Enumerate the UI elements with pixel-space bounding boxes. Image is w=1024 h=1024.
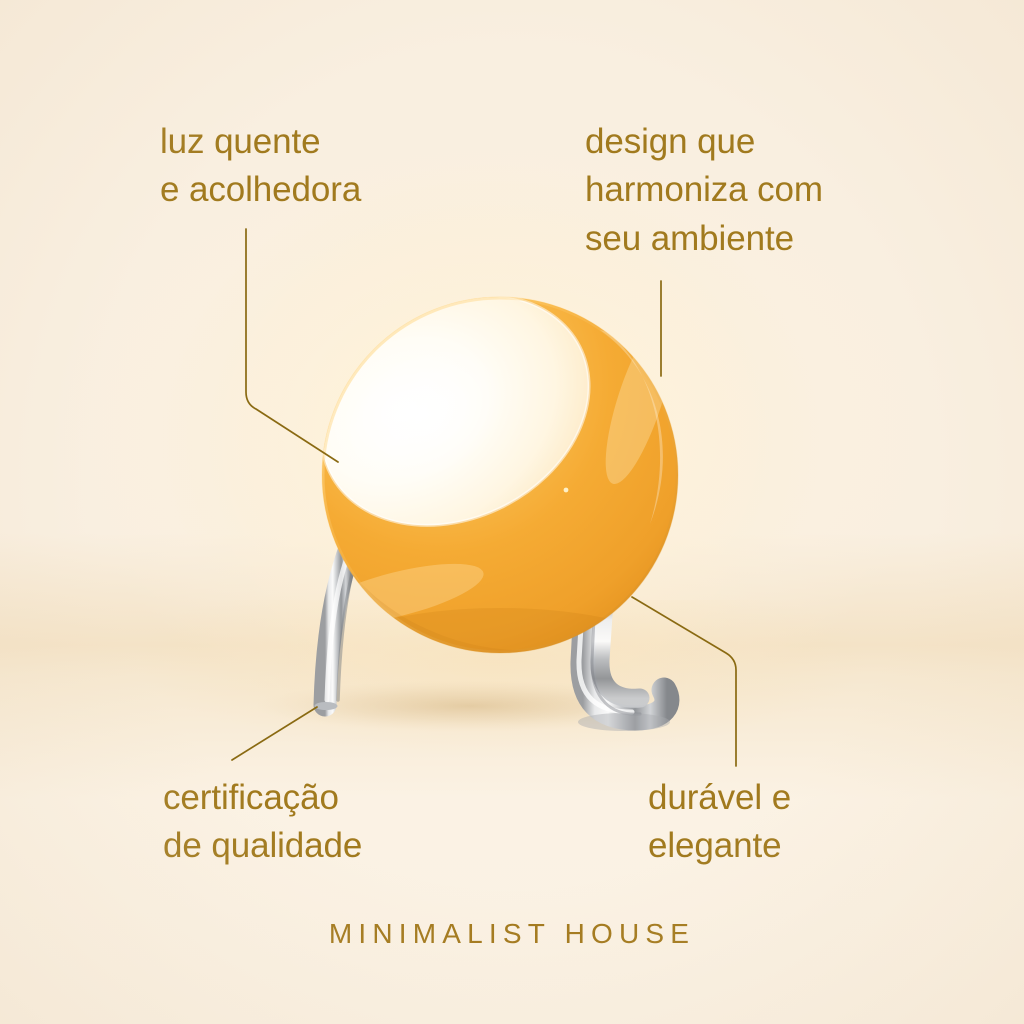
product-image xyxy=(0,0,1024,1024)
callout-bottom-right: durável e elegante xyxy=(648,774,791,871)
product-feature-card: luz quente e acolhedora design que harmo… xyxy=(0,0,1024,1024)
lamp-illustration xyxy=(0,0,1024,1024)
callout-top-right: design que harmoniza com seu ambiente xyxy=(585,118,823,263)
callout-bottom-left: certificação de qualidade xyxy=(163,774,362,871)
callout-top-left: luz quente e acolhedora xyxy=(160,118,361,215)
brand-name: MINIMALIST HOUSE xyxy=(0,918,1024,950)
